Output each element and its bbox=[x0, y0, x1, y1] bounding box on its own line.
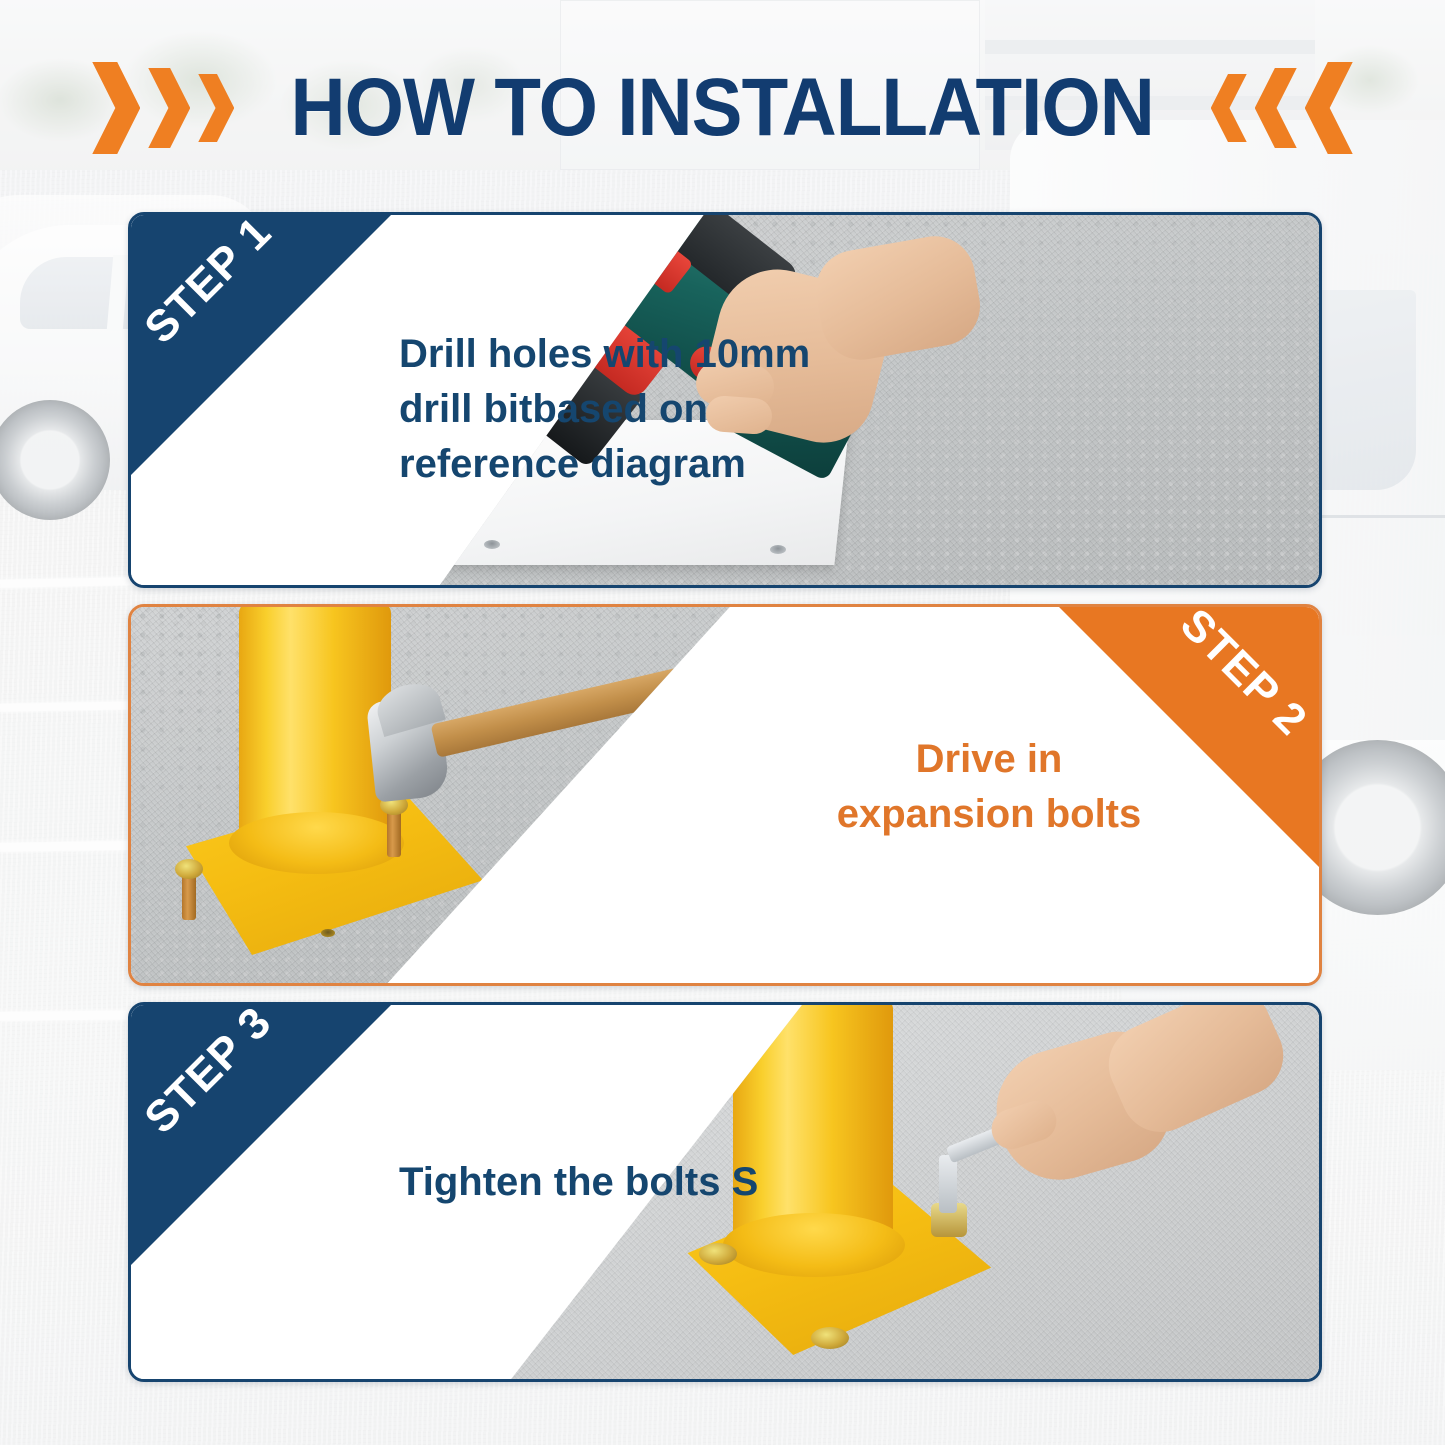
step-1-content: STEP 1 Drill holes with 10mm drill bitba… bbox=[131, 215, 1319, 585]
plate-hole bbox=[321, 929, 335, 937]
infographic-page: HOW TO INSTALLATION bbox=[0, 0, 1445, 1445]
step-panel-1: STEP 1 Drill holes with 10mm drill bitba… bbox=[128, 212, 1322, 588]
bollard-post-foot bbox=[723, 1213, 905, 1277]
chevron-right-icon bbox=[198, 74, 234, 142]
step-1-badge-label: STEP 1 bbox=[135, 215, 281, 354]
expansion-bolt-shaft bbox=[182, 872, 196, 920]
tightened-bolt bbox=[699, 1243, 737, 1265]
expansion-bolt-head bbox=[175, 859, 203, 879]
badge-triangle bbox=[131, 215, 391, 475]
plate-hole bbox=[770, 545, 786, 554]
chevrons-left-icon bbox=[1211, 62, 1353, 154]
chevron-left-icon bbox=[1211, 74, 1247, 142]
step-panel-2: STEP 2 Drive in expansion bolts bbox=[128, 604, 1322, 986]
step-2-content: STEP 2 Drive in expansion bolts bbox=[131, 607, 1319, 983]
chevrons-right-icon bbox=[92, 62, 234, 154]
tightened-bolt bbox=[811, 1327, 849, 1349]
step-1-text: Drill holes with 10mm drill bitbased on … bbox=[399, 327, 869, 493]
chevron-left-icon bbox=[1255, 68, 1297, 148]
step-3-text: Tighten the bolts S bbox=[399, 1155, 959, 1210]
step-3-badge-label: STEP 3 bbox=[135, 1005, 281, 1144]
expansion-bolt-shaft bbox=[387, 809, 401, 857]
page-header: HOW TO INSTALLATION bbox=[0, 48, 1445, 168]
step-3-badge: STEP 3 bbox=[131, 1005, 391, 1265]
step-2-badge-label: STEP 2 bbox=[1170, 607, 1316, 746]
step-3-content: STEP 3 Tighten the bolts S bbox=[131, 1005, 1319, 1379]
step-panel-3: STEP 3 Tighten the bolts S bbox=[128, 1002, 1322, 1382]
page-title: HOW TO INSTALLATION bbox=[278, 61, 1168, 155]
chevron-left-icon bbox=[1305, 62, 1353, 154]
step-1-badge: STEP 1 bbox=[131, 215, 391, 475]
chevron-right-icon bbox=[148, 68, 190, 148]
badge-triangle bbox=[131, 1005, 391, 1265]
plate-hole bbox=[484, 540, 500, 549]
chevron-right-icon bbox=[92, 62, 140, 154]
step-2-text: Drive in expansion bolts bbox=[779, 732, 1199, 842]
bollard-post-foot bbox=[229, 812, 404, 874]
